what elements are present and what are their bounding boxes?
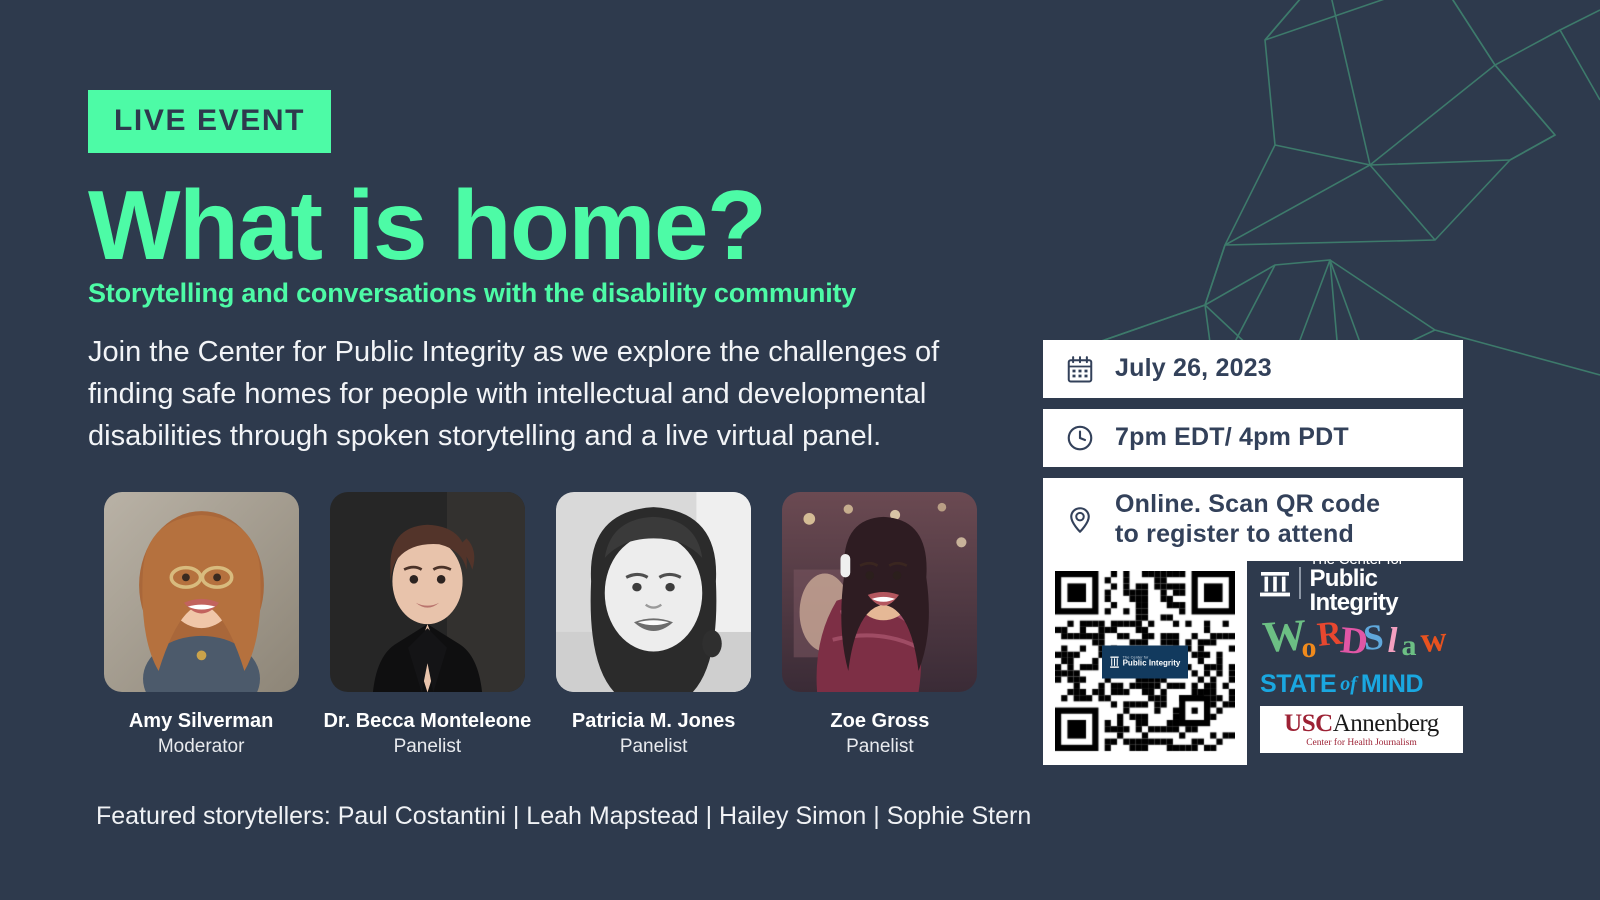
usc-part1: USC — [1284, 710, 1333, 737]
qr-center-logo: The Center for Public Integrity — [1102, 646, 1188, 679]
column-icon — [1110, 655, 1119, 669]
wordslaw-lettering: W o R D S l a w — [1260, 610, 1463, 662]
svg-text:o: o — [1302, 631, 1317, 662]
speaker-role: Panelist — [541, 736, 767, 758]
subtitle: Storytelling and conversations with the … — [88, 278, 856, 309]
info-card-date: July 26, 2023 — [1043, 340, 1463, 398]
speaker-card: Dr. Becca Monteleone Panelist — [314, 492, 540, 758]
event-date: July 26, 2023 — [1115, 354, 1272, 384]
speaker-card: Patricia M. Jones Panelist — [541, 492, 767, 758]
description-paragraph: Join the Center for Public Integrity as … — [88, 332, 993, 457]
logo-state-of-mind: STATE of MIND — [1260, 669, 1463, 699]
partner-logos: The Center for Public Integrity W o R D … — [1260, 559, 1463, 753]
speaker-card: Amy Silverman Moderator — [88, 492, 314, 758]
info-card-time: 7pm EDT/ 4pm PDT — [1043, 409, 1463, 467]
logo-public-integrity: The Center for Public Integrity — [1260, 563, 1463, 603]
left-content-column: LIVE EVENT What is home? Storytelling an… — [88, 0, 1008, 900]
speaker-name: Amy Silverman — [88, 710, 314, 733]
portrait-zoe-gross — [782, 492, 977, 692]
event-time: 7pm EDT/ 4pm PDT — [1115, 423, 1349, 453]
logo-divider — [1299, 567, 1301, 599]
featured-storytellers: Featured storytellers: Paul Costantini |… — [96, 802, 1031, 831]
speaker-role: Moderator — [88, 736, 314, 758]
event-details-column: July 26, 2023 7pm EDT/ 4pm PDT Online. S… — [1043, 340, 1463, 572]
speakers-row: Amy Silverman Moderator — [88, 492, 993, 758]
som-part1: STATE — [1260, 670, 1336, 699]
logo-usc-annenberg: USCAnnenberg Center for Health Journalis… — [1260, 706, 1463, 753]
polygon-mesh-decoration — [1040, 0, 1600, 380]
speaker-card: Zoe Gross Panelist — [767, 492, 993, 758]
svg-text:a: a — [1402, 629, 1417, 662]
page-title: What is home? — [88, 176, 765, 274]
cpi-line2: Public Integrity — [1310, 567, 1464, 615]
event-location: Online. Scan QR code to register to atte… — [1115, 490, 1380, 549]
event-poster: LIVE EVENT What is home? Storytelling an… — [0, 0, 1600, 900]
info-card-location: Online. Scan QR code to register to atte… — [1043, 478, 1463, 561]
usc-tagline: Center for Health Journalism — [1306, 738, 1417, 748]
live-event-badge: LIVE EVENT — [88, 90, 331, 153]
svg-text:l: l — [1388, 620, 1398, 660]
speaker-name: Zoe Gross — [767, 710, 993, 733]
som-part2: of — [1336, 673, 1361, 696]
clock-icon — [1065, 423, 1095, 453]
calendar-icon — [1065, 354, 1095, 384]
speaker-role: Panelist — [767, 736, 993, 758]
location-pin-icon — [1065, 505, 1095, 535]
speaker-role: Panelist — [314, 736, 540, 758]
portrait-patricia-jones — [556, 492, 751, 692]
portrait-amy-silverman — [104, 492, 299, 692]
portrait-becca-monteleone — [330, 492, 525, 692]
logo-wordslaw: W o R D S l a w — [1260, 610, 1463, 662]
svg-text:w: w — [1419, 618, 1448, 660]
qr-code[interactable]: The Center for Public Integrity — [1043, 559, 1247, 765]
speaker-name: Patricia M. Jones — [541, 710, 767, 733]
qr-and-logos-row: The Center for Public Integrity The Cent… — [1043, 559, 1463, 765]
speaker-name: Dr. Becca Monteleone — [314, 710, 540, 733]
qr-logo-line2: Public Integrity — [1123, 660, 1181, 668]
som-part3: MIND — [1361, 670, 1423, 699]
svg-text:S: S — [1362, 616, 1385, 658]
usc-part2: Annenberg — [1333, 710, 1439, 737]
column-icon — [1260, 568, 1290, 598]
